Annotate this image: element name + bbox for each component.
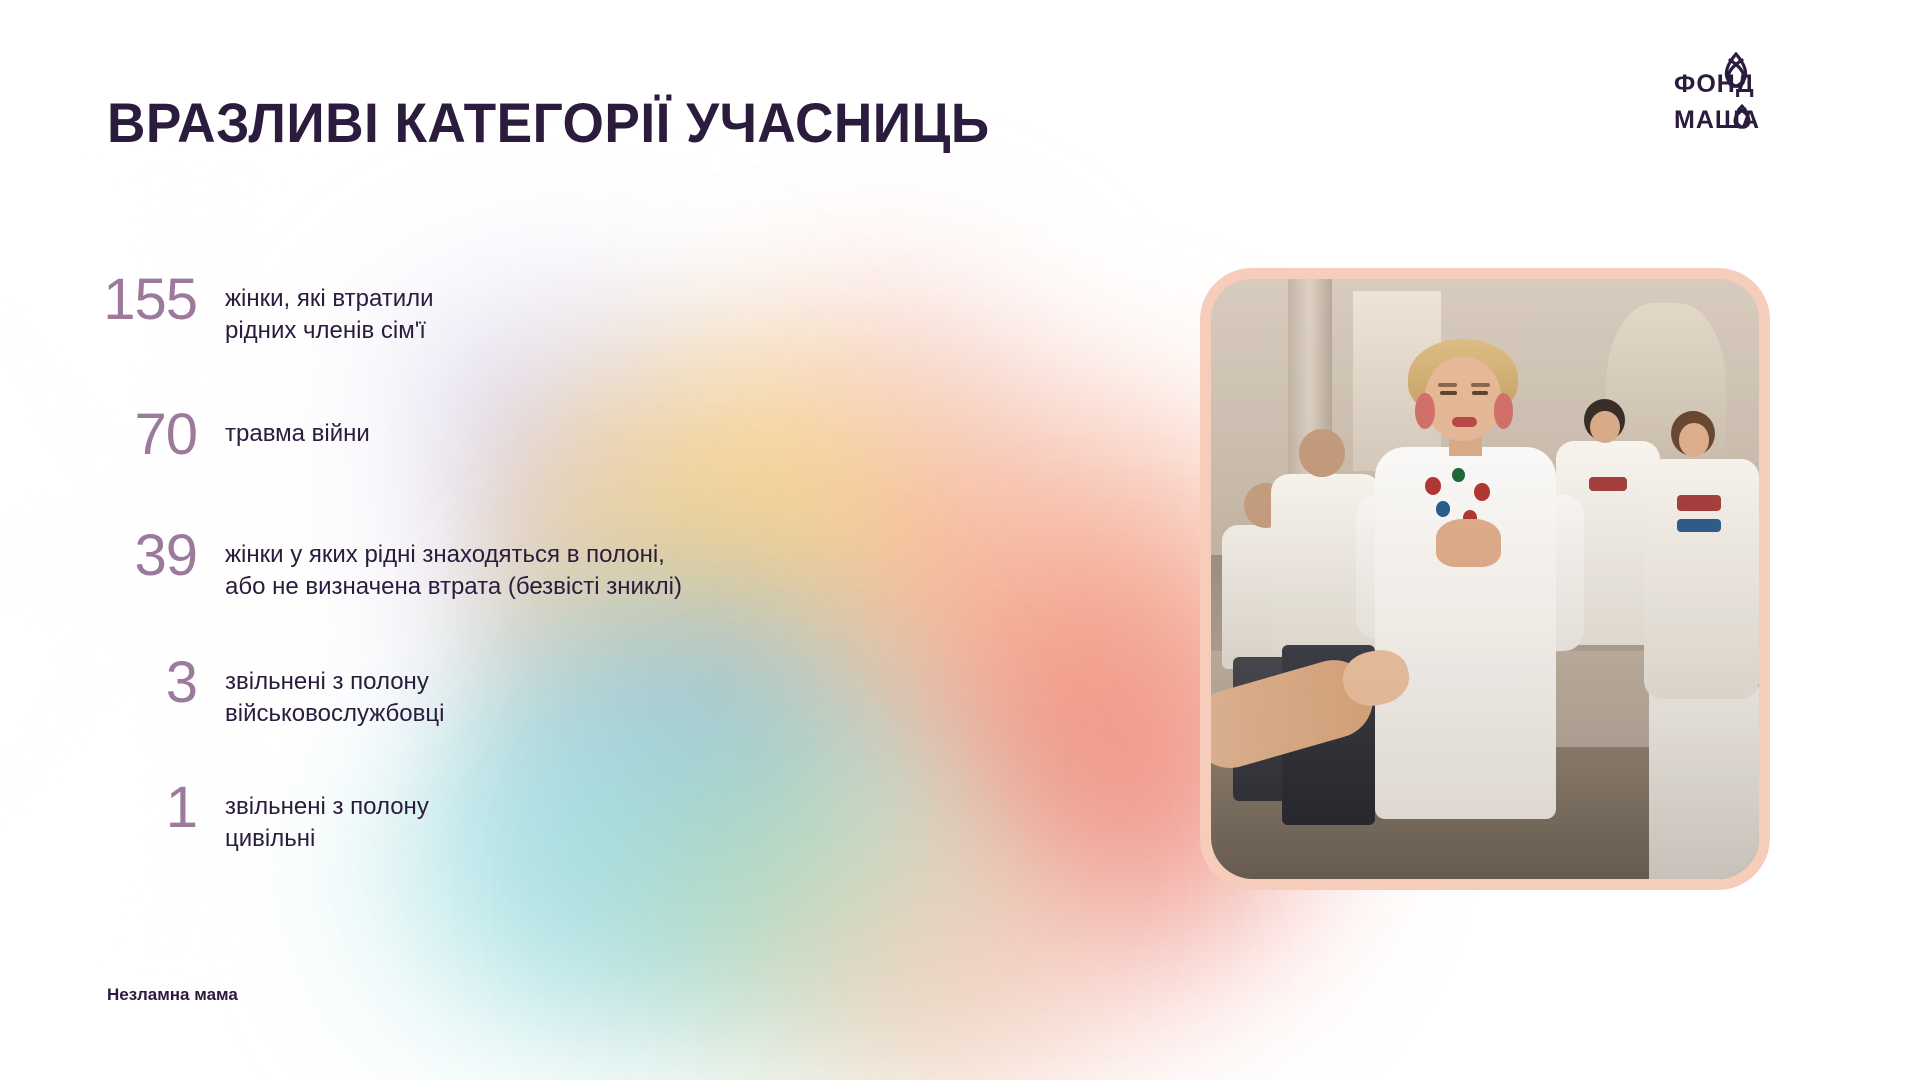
stat-label: звільнені з полону цивільні	[225, 778, 429, 855]
footer-note: Незламна мама	[107, 985, 238, 1005]
stat-row: 70 травма війни	[95, 405, 885, 464]
stat-row: 155 жінки, які втратили рідних членів сі…	[95, 270, 885, 347]
stat-label: травма війни	[225, 405, 370, 450]
brand-logo: ФОНД МАША	[1672, 48, 1822, 144]
photo-inner	[1211, 279, 1759, 879]
stat-label: звільнені з полону військовослужбовці	[225, 653, 444, 730]
stat-number: 3	[95, 653, 225, 712]
stat-number: 155	[95, 270, 225, 329]
logo-line1: ФОНД	[1674, 70, 1755, 98]
stat-row: 1 звільнені з полону цивільні	[95, 778, 885, 855]
stat-row: 3 звільнені з полону військовослужбовці	[95, 653, 885, 730]
stats-list: 155 жінки, які втратили рідних членів сі…	[95, 270, 885, 876]
stat-number: 39	[95, 526, 225, 585]
stat-number: 70	[95, 405, 225, 464]
stat-row: 39 жінки у яких рідні знаходяться в поло…	[95, 526, 885, 603]
stat-label: жінки, які втратили рідних членів сім'ї	[225, 270, 434, 347]
stat-number: 1	[95, 778, 225, 837]
page-title: ВРАЗЛИВІ КАТЕГОРІЇ УЧАСНИЦЬ	[107, 90, 990, 155]
stat-label: жінки у яких рідні знаходяться в полоні,…	[225, 526, 682, 603]
participants-photo	[1200, 268, 1770, 890]
photo-tone-overlay	[1211, 279, 1759, 879]
slide-content: ВРАЗЛИВІ КАТЕГОРІЇ УЧАСНИЦЬ ФОНД МАША 15…	[0, 0, 1920, 1080]
